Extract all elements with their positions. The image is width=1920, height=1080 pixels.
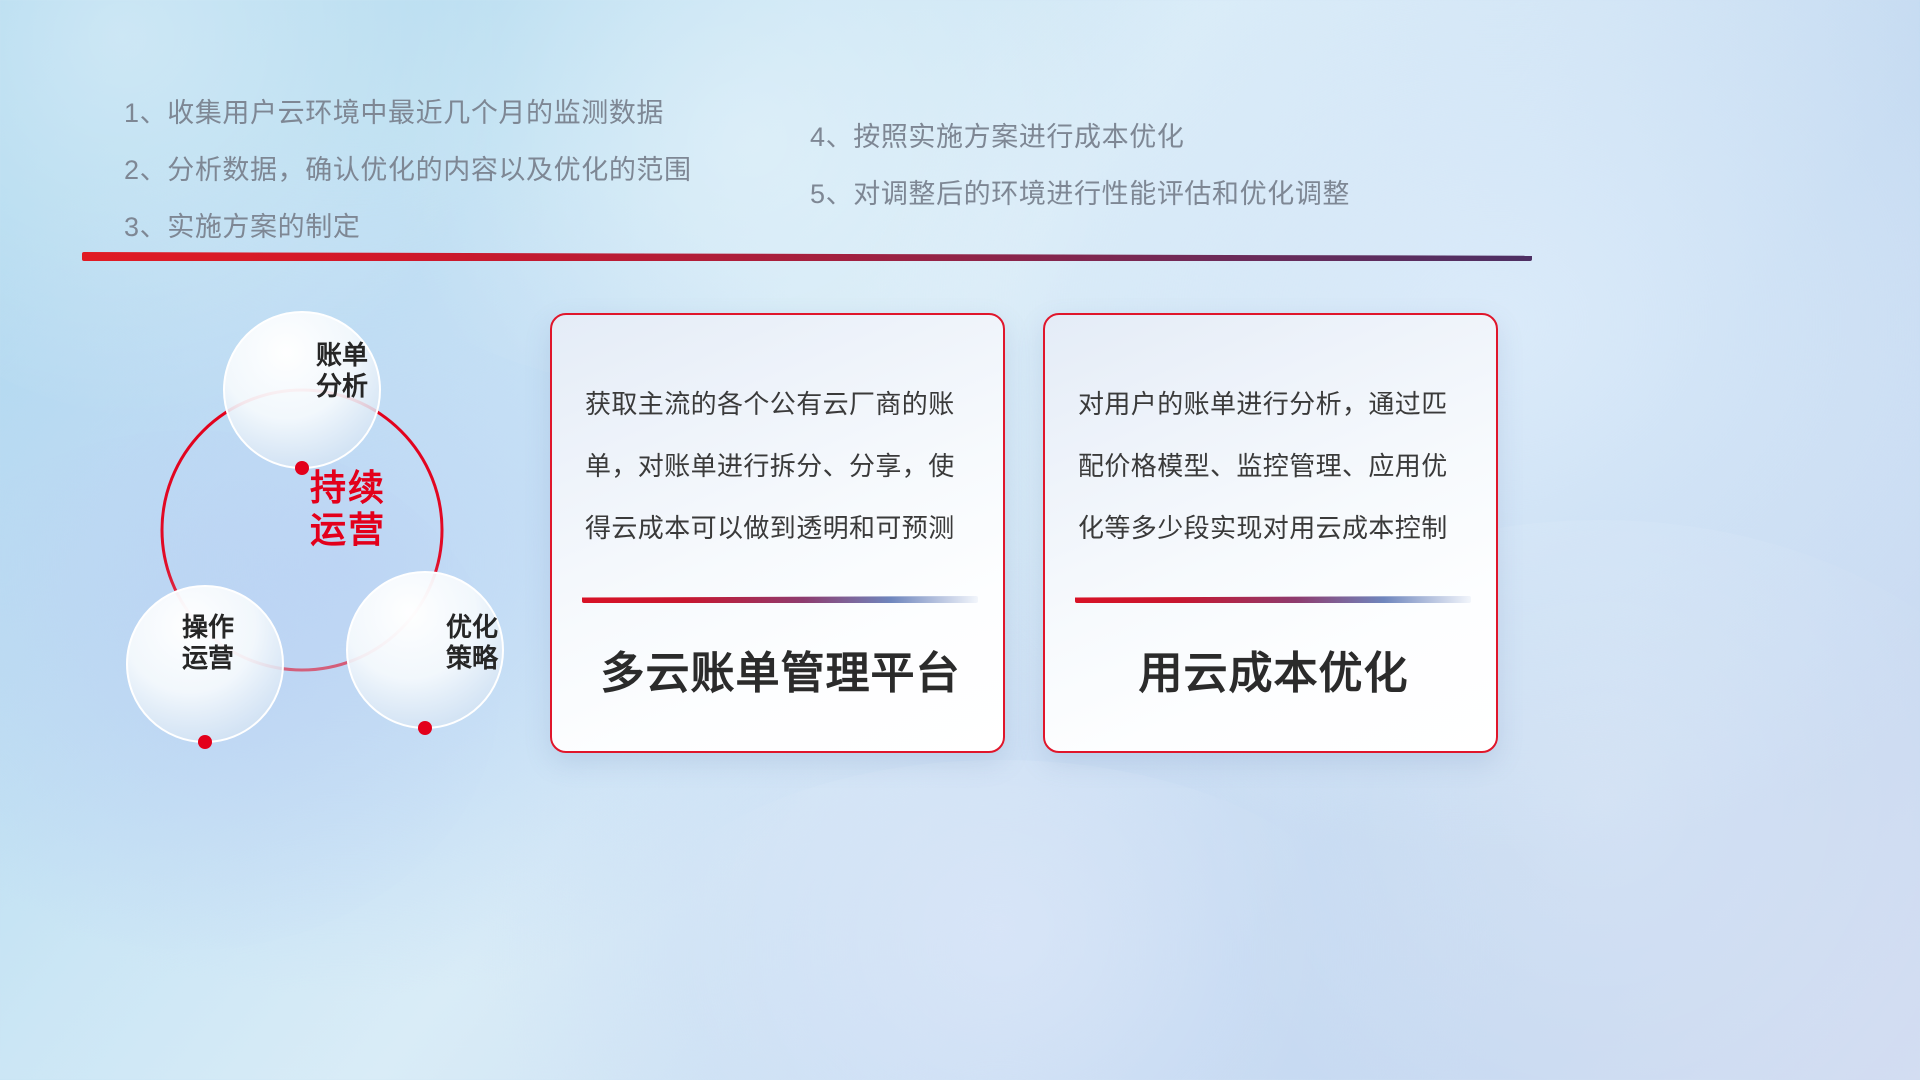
card-divider-shape — [582, 596, 978, 603]
card-title: 用云成本优化 — [1075, 637, 1472, 701]
diagram-label-optimization-policy: 优化 策略 — [392, 612, 552, 673]
steps-list-right: 4、按照实施方案进行成本优化 5、对调整后的环境进行性能评估和优化调整 — [810, 124, 1350, 208]
steps-list-left: 1、收集用户云环境中最近几个月的监测数据 2、分析数据，确认优化的内容以及优化的… — [124, 100, 692, 241]
background-glow-bottom-center — [620, 760, 1380, 1080]
card-body-text: 对用户的账单进行分析，通过匹配价格模型、监控管理、应用优化等多少段实现对用云成本… — [1078, 373, 1468, 559]
card-cloud-cost-optimization[interactable]: 对用户的账单进行分析，通过匹配价格模型、监控管理、应用优化等多少段实现对用云成本… — [1043, 313, 1498, 753]
card-title: 多云账单管理平台 — [582, 637, 979, 701]
section-divider-shape — [82, 252, 1532, 261]
card-body-text: 获取主流的各个公有云厂商的账单，对账单进行拆分、分享，使得云成本可以做到透明和可… — [585, 373, 975, 559]
diagram-label-operations: 操作 运营 — [128, 612, 288, 673]
card-divider-shape — [1075, 596, 1471, 603]
step-item-3: 3、实施方案的制定 — [124, 214, 692, 241]
step-item-1: 1、收集用户云环境中最近几个月的监测数据 — [124, 100, 692, 127]
diagram-label-center: 持续 运营 — [248, 467, 448, 552]
card-multi-cloud-billing-platform[interactable]: 获取主流的各个公有云厂商的账单，对账单进行拆分、分享，使得云成本可以做到透明和可… — [550, 313, 1005, 753]
diagram-label-billing-analysis: 账单 分析 — [262, 340, 422, 401]
card-divider — [1075, 596, 1471, 603]
step-item-2: 2、分析数据，确认优化的内容以及优化的范围 — [124, 157, 692, 184]
node-dot-operations — [198, 735, 212, 749]
step-item-5: 5、对调整后的环境进行性能评估和优化调整 — [810, 181, 1350, 208]
section-divider-rule — [82, 252, 1532, 261]
step-item-4: 4、按照实施方案进行成本优化 — [810, 124, 1350, 151]
card-divider — [582, 596, 978, 603]
node-dot-optimization — [418, 721, 432, 735]
continuous-operations-diagram: 账单 分析 持续 运营 操作 运营 优化 策略 — [80, 282, 550, 782]
